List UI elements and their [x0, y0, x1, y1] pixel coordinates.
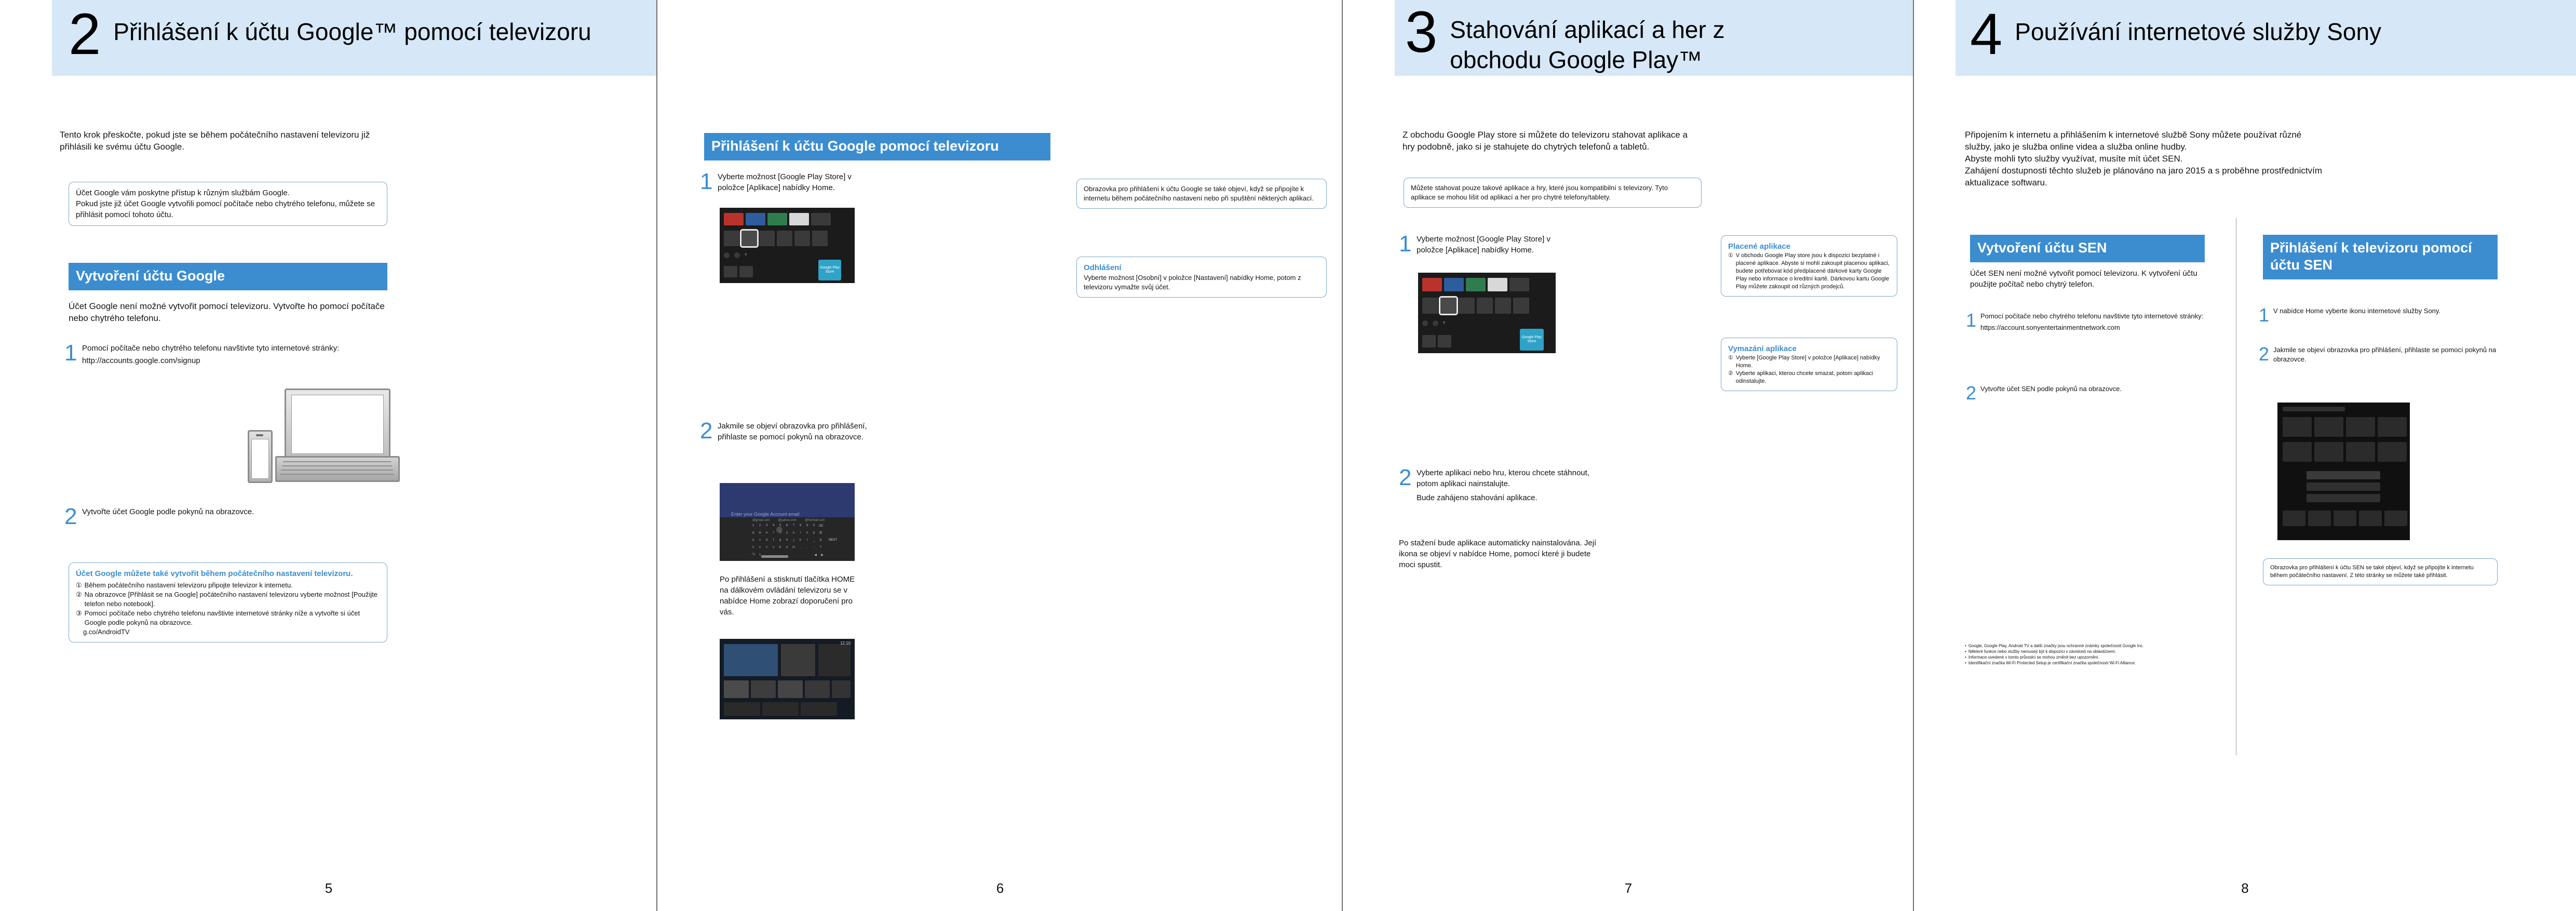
step-2: 2 Vytvořte účet Google podle pokynů na o… [64, 506, 392, 527]
tv-screenshot-apps: ? Google Play Store [720, 208, 855, 283]
item-text: Vyberte aplikaci, kterou chcete smazat, … [1736, 370, 1890, 385]
lead-text-sen: Účet SEN není možné vytvořit pomocí tele… [1970, 268, 2205, 290]
note-text: Obrazovka pro přihlášení k účtu SEN se t… [2270, 564, 2490, 580]
step-1: 1 Pomocí počítače nebo chytrého telefonu… [64, 343, 392, 366]
key[interactable]: r [770, 531, 777, 534]
key[interactable]: u [790, 531, 797, 534]
key[interactable]: n [784, 546, 790, 549]
step-2-left: 2 Vytvořte účet SEN podle pokynů na obra… [1966, 384, 2205, 402]
page-number: 8 [1914, 880, 2576, 896]
note-item-list: ①V obchodu Google Play store jsou k disp… [1728, 252, 1890, 291]
note-item: ③Pomocí počítače nebo chytrého telefonu … [76, 609, 380, 627]
arrow-right-icon[interactable]: ▶ [819, 553, 826, 557]
item-marker: ① [1728, 252, 1733, 260]
space-key[interactable] [761, 555, 788, 558]
bluebar-create-google-account: Vytvoření účtu Google [69, 263, 387, 290]
tv-screenshot-sen [2277, 403, 2410, 540]
step-2: 2 Jakmile se objeví obrazovka pro přihlá… [700, 421, 876, 443]
bullet-icon: • [1965, 649, 1966, 654]
note-google-account: Účet Google vám poskytne přístup k různý… [69, 182, 387, 226]
key[interactable]: o [804, 531, 811, 534]
step-1-number: 1 [1399, 234, 1417, 254]
section-number: 2 [69, 9, 100, 59]
page-8: 4 Používání internetové služby Sony Přip… [1914, 0, 2576, 911]
bullet-icon: • [1965, 643, 1966, 649]
footnote-list: •Google, Google Play, Android TV a další… [1965, 643, 2256, 666]
step-1-right: 1 V nabídce Home vyberte ikonu interneto… [2259, 306, 2498, 324]
note-title: Placené aplikace [1728, 241, 1890, 252]
footnote-text: Identifikační značka Wi-Fi Protected Set… [1968, 660, 2136, 666]
key[interactable]: l [804, 539, 811, 542]
bullet-icon: • [1965, 654, 1966, 660]
step-2-text: Jakmile se objeví obrazovka pro přihláše… [718, 421, 876, 443]
key[interactable]: s [757, 539, 763, 542]
item-text: Pomocí počítače nebo chytrého telefonu n… [85, 609, 380, 627]
step-2-number: 2 [700, 421, 718, 441]
tv-screenshot-signin: Enter your Google Account email address … [720, 483, 855, 561]
step-1-url: https://account.sonyentertainmentnetwork… [1980, 323, 2205, 332]
footnote-text: Google, Google Play, Android TV a další … [1968, 643, 2144, 649]
item-marker: ② [76, 590, 82, 599]
note-url: g.co/AndroidTV [83, 627, 380, 637]
footnote-text: Některé funkce nebo služby nemusejí být … [1968, 649, 2116, 654]
section-title: Přihlášení k účtu Google™ pomocí televiz… [113, 9, 591, 47]
step-2-number: 2 [1966, 384, 1980, 402]
section-header-4: 4 Používání internetové služby Sony [1970, 9, 2381, 59]
keyboard-row-digits[interactable]: 1 2 3 4 5 6 7 8 9 0 ⌫ [750, 524, 824, 528]
step-2-text: Jakmile se objeví obrazovka pro přihláše… [2273, 345, 2498, 364]
footnote-item: •Identifikační značka Wi-Fi Protected Se… [1965, 660, 2256, 666]
key[interactable]: q [750, 531, 757, 534]
laptop-lid [285, 388, 390, 460]
domain-suggestions[interactable]: @gmail.com @yahoo.com @hotmail.com [752, 519, 825, 522]
step-1-text: V nabídce Home vyberte ikonu internetové… [2273, 306, 2498, 316]
domain-suggestion[interactable]: @yahoo.com [778, 519, 796, 522]
key[interactable]: 8 [797, 524, 804, 528]
key[interactable]: 9 [804, 524, 811, 528]
step-2-number: 2 [1399, 467, 1417, 488]
item-marker: ① [76, 581, 82, 590]
step-1: 1 Vyberte možnost [Google Play Store] v … [700, 171, 876, 193]
page-7: 3 Stahování aplikací a her z obchodu Goo… [1343, 0, 1914, 911]
step-2-subtext: Bude zahájeno stahování aplikace. [1417, 492, 1596, 503]
step-1-text: Vyberte možnost [Google Play Store] v po… [718, 171, 876, 193]
note-text: Můžete stahovat pouze takové aplikace a … [1411, 183, 1694, 202]
key[interactable]: y [784, 531, 790, 534]
clock: 12:10 [840, 641, 851, 646]
item-text: Během počátečního nastavení televizoru p… [85, 581, 293, 590]
step-1-text: Vyberte možnost [Google Play Store] v po… [1417, 234, 1575, 256]
section-header-2: 2 Přihlášení k účtu Google™ pomocí telev… [69, 9, 591, 59]
key[interactable]: x [757, 546, 763, 549]
step-1-url: http://accounts.google.com/signup [82, 355, 392, 366]
step-1-text: Pomocí počítače nebo chytrého telefonu n… [82, 343, 392, 354]
next-button[interactable]: NEXT [829, 539, 837, 542]
note-signin-screen: Obrazovka pro přihlášení k účtu Google s… [1076, 179, 1327, 209]
keyboard-row-a[interactable]: a s d f g h j k l _ & [750, 539, 824, 542]
key[interactable]: ? [817, 546, 824, 549]
step-2-text: Vytvořte účet SEN podle pokynů na obrazo… [1980, 384, 2205, 394]
note-title: Odhlášení [1084, 262, 1319, 273]
key[interactable]: 0 [811, 524, 817, 528]
key[interactable]: v [770, 546, 777, 549]
step-2-text: Vytvořte účet Google podle pokynů na obr… [82, 506, 392, 517]
keyboard-row-q[interactable]: q w e r t y u i o p @ [750, 531, 824, 534]
keyboard-row-z[interactable]: z x c v b n m , . - ? [750, 546, 824, 549]
item-text: Vyberte [Google Play Store] v položce [A… [1736, 354, 1890, 370]
step-1-number: 1 [700, 171, 718, 192]
key[interactable]: 3 [763, 524, 770, 528]
lead-text: Účet Google není možné vytvořit pomocí t… [69, 300, 387, 324]
section-header-3: 3 Stahování aplikací a her z obchodu Goo… [1405, 7, 1730, 75]
note-item: ②Vyberte aplikaci, kterou chcete smazat,… [1728, 370, 1890, 385]
note-delete-app: Vymazání aplikace ①Vyberte [Google Play … [1721, 338, 1897, 391]
note-title: Vymazání aplikace [1728, 343, 1890, 354]
key[interactable]: 5 [777, 524, 784, 528]
note-create-during-setup: Účet Google můžete také vytvořit během p… [69, 562, 387, 642]
footnote-item: •Informace uvedené v tomto průvodci se m… [1965, 654, 2256, 660]
step-2-text: Vyberte aplikaci nebo hru, kterou chcete… [1417, 467, 1596, 489]
shift-key[interactable]: ⇧ [757, 553, 763, 557]
step-2: 2 Vyberte aplikaci nebo hru, kterou chce… [1399, 467, 1596, 503]
footnote-text: Informace uvedené v tomto průvodci se mo… [1968, 654, 2099, 660]
step-2-number: 2 [64, 506, 82, 527]
onscreen-keyboard[interactable]: @gmail.com @yahoo.com @hotmail.com 1 2 3… [720, 517, 855, 561]
key[interactable]: z [750, 546, 757, 549]
column-divider [2236, 218, 2236, 755]
tv-screenshot-apps: ? Google Play Store [1418, 273, 1556, 353]
key[interactable]: , [797, 546, 804, 549]
keyboard-arrows[interactable]: ◀ ▶ [812, 553, 826, 557]
footnote-item: •Některé funkce nebo služby nemusejí být… [1965, 649, 2256, 654]
key[interactable]: f [770, 539, 777, 542]
key[interactable]: w [757, 531, 763, 534]
note-item: ①Během počátečního nastavení televizoru … [76, 581, 380, 590]
guide-sheet: 2 Přihlášení k účtu Google™ pomocí telev… [0, 0, 2576, 911]
footnote-item: •Google, Google Play, Android TV a další… [1965, 643, 2256, 649]
tv-screenshot-home: 12:10 [720, 639, 855, 719]
step-1-text: Pomocí počítače nebo chytrého telefonu n… [1980, 312, 2205, 321]
after-signin-text: Po přihlášení a stisknutí tlačítka HOME … [720, 574, 856, 618]
key[interactable]: a [750, 539, 757, 542]
key[interactable]: j [790, 539, 797, 542]
note-item: ②Na obrazovce [Přihlásit se na Google] p… [76, 590, 380, 609]
intro-text: Připojením k internetu a přihlášením k i… [1965, 129, 2328, 189]
google-play-store-badge: Google Play Store [818, 260, 841, 280]
key[interactable]: p [811, 531, 817, 534]
bluebar-signin-sen: Přihlášení k televizoru pomocí účtu SEN [2263, 235, 2498, 279]
key[interactable]: k [797, 539, 804, 542]
key[interactable]: 4 [770, 524, 777, 528]
after-download-text: Po stažení bude aplikace automaticky nai… [1399, 538, 1607, 570]
step-1-number: 1 [2259, 306, 2273, 324]
bluebar-signin-google: Přihlášení k účtu Google pomocí televizo… [704, 133, 1050, 160]
phone-screen [251, 439, 269, 479]
note-paid-apps: Placené aplikace ①V obchodu Google Play … [1721, 235, 1897, 297]
key[interactable]: b [777, 546, 784, 549]
arrow-left-icon[interactable]: ◀ [812, 553, 819, 557]
bullet-icon: • [1965, 660, 1966, 666]
step-1-left: 1 Pomocí počítače nebo chytrého telefonu… [1966, 312, 2205, 332]
step-1-number: 1 [1966, 312, 1980, 329]
page-6: Přihlášení k účtu Google pomocí televizo… [657, 0, 1343, 911]
key[interactable]: 2 [757, 524, 763, 528]
devices-illustration [197, 369, 384, 509]
intro-text: Tento krok přeskočte, pokud jste se běhe… [60, 129, 397, 153]
page-5: 2 Přihlášení k účtu Google™ pomocí telev… [0, 0, 657, 911]
key[interactable]: & [817, 539, 824, 542]
note-title: Účet Google můžete také vytvořit během p… [76, 568, 380, 579]
key[interactable]: m [790, 546, 797, 549]
google-play-store-badge: Google Play Store [1520, 329, 1544, 351]
laptop-base [275, 456, 400, 482]
page-number: 6 [657, 880, 1343, 896]
step-2-right: 2 Jakmile se objeví obrazovka pro přihlá… [2259, 345, 2498, 364]
keyboard-row-mod[interactable]: ·½ ⇧ [750, 553, 763, 557]
domain-suggestion[interactable]: @gmail.com [752, 519, 770, 522]
laptop-screen [291, 395, 384, 454]
note-compatible-apps: Můžete stahovat pouze takové aplikace a … [1404, 178, 1702, 208]
step-1-number: 1 [64, 343, 82, 364]
note-line-1: Účet Google vám poskytne přístup k různý… [76, 187, 380, 198]
step-2-body: Vyberte aplikaci nebo hru, kterou chcete… [1417, 467, 1596, 503]
note-text: Vyberte možnost [Osobní] v položce [Nast… [1084, 273, 1319, 292]
note-item-list: ①Během počátečního nastavení televizoru … [76, 581, 380, 627]
bluebar-create-sen: Vytvoření účtu SEN [1970, 235, 2205, 262]
item-marker: ③ [76, 609, 82, 618]
backspace-key[interactable]: ⌫ [817, 524, 824, 528]
note-item: ①Vyberte [Google Play Store] v položce [… [1728, 354, 1890, 370]
key[interactable]: c [763, 546, 770, 549]
note-line-2: Pokud jste již účet Google vytvořili pom… [76, 198, 380, 220]
key[interactable]: i [797, 531, 804, 534]
step-1: 1 Vyberte možnost [Google Play Store] v … [1399, 234, 1575, 256]
key[interactable]: h [784, 539, 790, 542]
key[interactable]: @ [817, 531, 824, 534]
key[interactable]: e [763, 531, 770, 534]
step-2-number: 2 [2259, 345, 2273, 363]
step-1-body: Pomocí počítače nebo chytrého telefonu n… [82, 343, 392, 366]
section-title: Stahování aplikací a her z obchodu Googl… [1450, 7, 1730, 75]
smartphone [248, 430, 273, 483]
key[interactable]: . [804, 546, 811, 549]
note-item-list: ①Vyberte [Google Play Store] v položce [… [1728, 354, 1890, 385]
note-sen-signin: Obrazovka pro přihlášení k účtu SEN se t… [2263, 558, 2498, 585]
page-number: 5 [0, 880, 657, 896]
key[interactable]: 7 [790, 524, 797, 528]
note-text: Obrazovka pro přihlášení k účtu Google s… [1084, 184, 1319, 203]
domain-suggestion[interactable]: @hotmail.com [805, 519, 825, 522]
section-title: Používání internetové služby Sony [2015, 9, 2381, 47]
note-signout: Odhlášení Vyberte možnost [Osobní] v pol… [1076, 257, 1327, 298]
section-number: 3 [1405, 7, 1436, 57]
key-selected[interactable]: t [777, 531, 784, 534]
key[interactable]: 6 [784, 524, 790, 528]
note-item: ①V obchodu Google Play store jsou k disp… [1728, 252, 1890, 291]
item-text: Na obrazovce [Přihlásit se na Google] po… [85, 590, 380, 609]
intro-text: Z obchodu Google Play store si můžete do… [1402, 129, 1698, 153]
step-1-body: Pomocí počítače nebo chytrého telefonu n… [1980, 312, 2205, 332]
item-marker: ② [1728, 370, 1733, 378]
item-marker: ① [1728, 354, 1733, 362]
section-number: 4 [1970, 9, 2001, 59]
key[interactable]: _ [811, 539, 817, 542]
key[interactable]: - [811, 546, 817, 549]
key[interactable]: d [763, 539, 770, 542]
page-number: 7 [1343, 880, 1914, 896]
item-text: V obchodu Google Play store jsou k dispo… [1736, 252, 1890, 291]
key[interactable]: g [777, 539, 784, 542]
symbols-key[interactable]: ·½ [750, 553, 757, 557]
key[interactable]: 1 [750, 524, 757, 528]
